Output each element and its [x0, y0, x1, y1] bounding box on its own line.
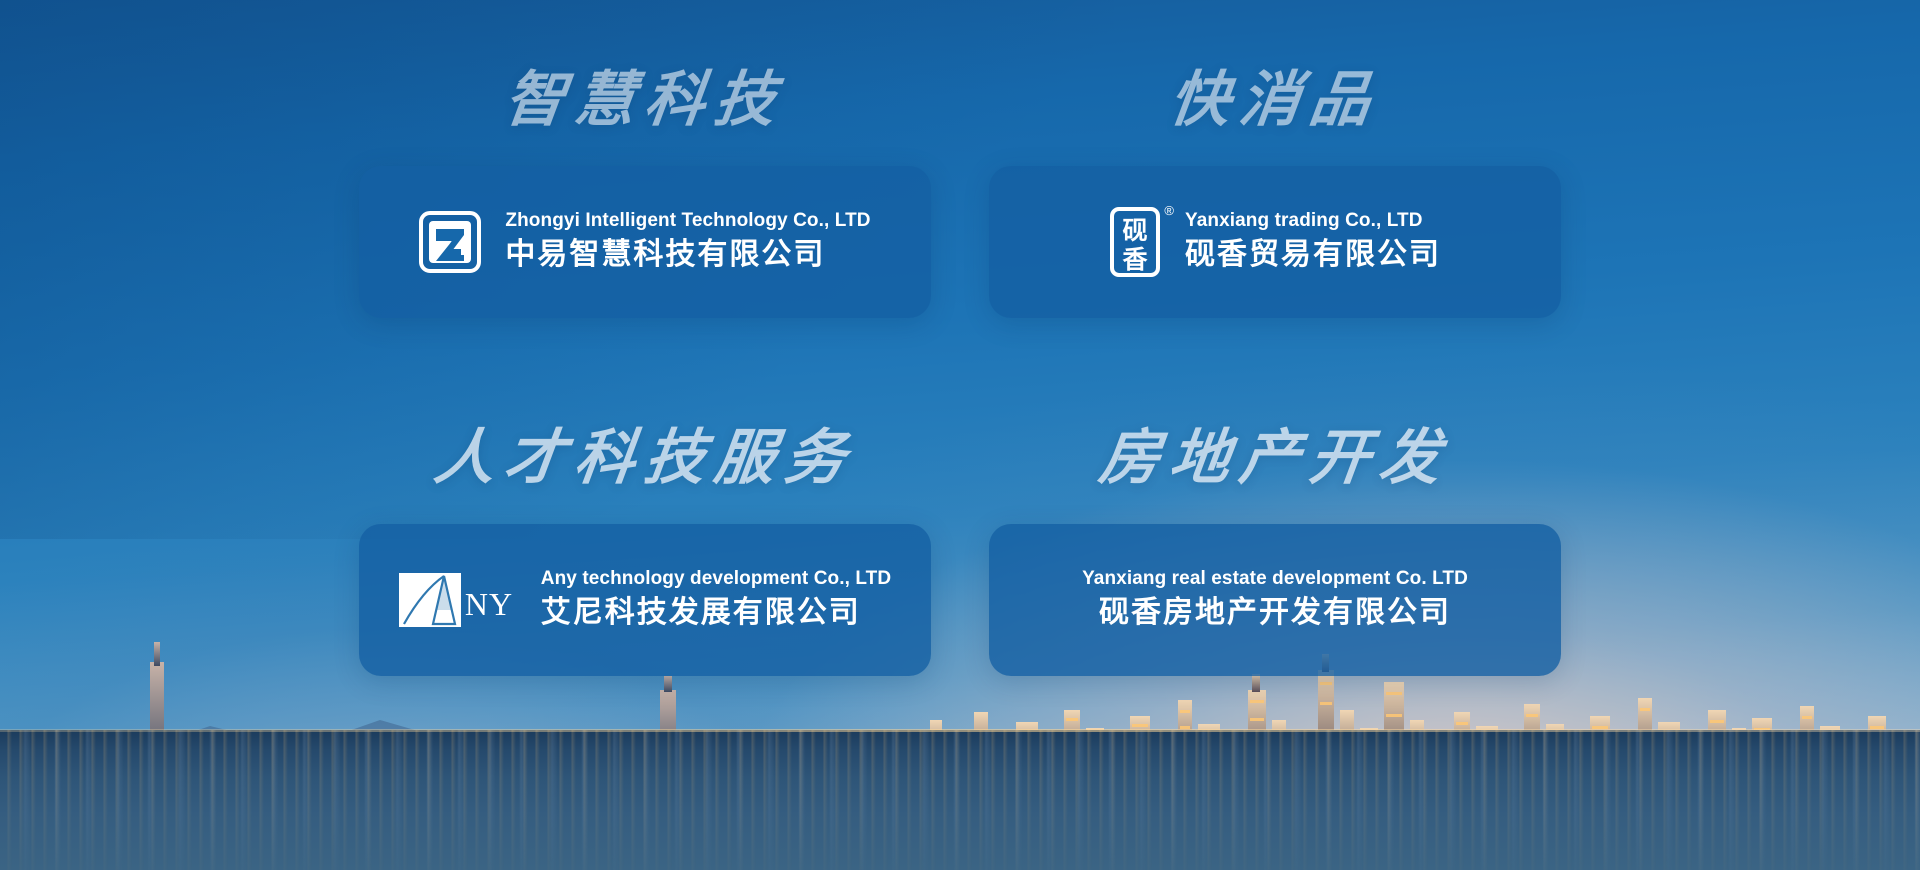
seal-glyph-bottom: 香 — [1122, 245, 1147, 274]
segment-title: 房地产开发 — [1096, 428, 1453, 488]
segment-title: 智慧科技 — [501, 70, 788, 130]
company-card-any[interactable]: NY Any technology development Co., LTD 艾… — [359, 524, 931, 676]
any-ny-logo-icon: NY — [399, 569, 517, 631]
any-wordmark: NY — [465, 586, 513, 622]
company-card-yanxiang-realestate[interactable]: Yanxiang real estate development Co. LTD… — [989, 524, 1561, 676]
company-name-en: Yanxiang real estate development Co. LTD — [1082, 567, 1468, 591]
registered-trademark-icon: ® — [1164, 204, 1174, 217]
company-name-cn: 艾尼科技发展有限公司 — [541, 593, 891, 634]
yanxiang-seal-icon: 砚 香 ® — [1109, 206, 1161, 278]
segments-grid: 智慧科技 Zhongyi Intelligent Technology Co.,… — [0, 0, 1920, 870]
company-card-zhongyi[interactable]: Zhongyi Intelligent Technology Co., LTD … — [359, 166, 931, 318]
segment-fmcg: 快消品 砚 香 ® Yanxiang trading Co., LTD 砚香贸易… — [960, 70, 1590, 410]
company-name-en: Zhongyi Intelligent Technology Co., LTD — [505, 209, 870, 233]
company-name-cn: 中易智慧科技有限公司 — [505, 235, 870, 276]
zhongyi-z-mark-icon — [419, 211, 481, 273]
company-text: Any technology development Co., LTD 艾尼科技… — [541, 567, 891, 633]
seal-glyph-top: 砚 — [1122, 216, 1147, 245]
company-text: Yanxiang real estate development Co. LTD… — [1082, 567, 1468, 633]
company-card-yanxiang-trading[interactable]: 砚 香 ® Yanxiang trading Co., LTD 砚香贸易有限公司 — [989, 166, 1561, 318]
company-text: Yanxiang trading Co., LTD 砚香贸易有限公司 — [1185, 209, 1441, 275]
company-text: Zhongyi Intelligent Technology Co., LTD … — [505, 209, 870, 275]
segment-smart-technology: 智慧科技 Zhongyi Intelligent Technology Co.,… — [330, 70, 960, 410]
segment-title: 快消品 — [1166, 70, 1383, 130]
segment-talent-services: 人才科技服务 NY Any technology development Co.… — [330, 410, 960, 750]
company-name-cn: 砚香房地产开发有限公司 — [1099, 593, 1451, 634]
segment-real-estate: 房地产开发 Yanxiang real estate development C… — [960, 410, 1590, 750]
segment-title: 人才科技服务 — [431, 428, 858, 488]
company-name-en: Any technology development Co., LTD — [541, 567, 891, 591]
company-name-en: Yanxiang trading Co., LTD — [1185, 209, 1441, 233]
company-name-cn: 砚香贸易有限公司 — [1185, 235, 1441, 276]
